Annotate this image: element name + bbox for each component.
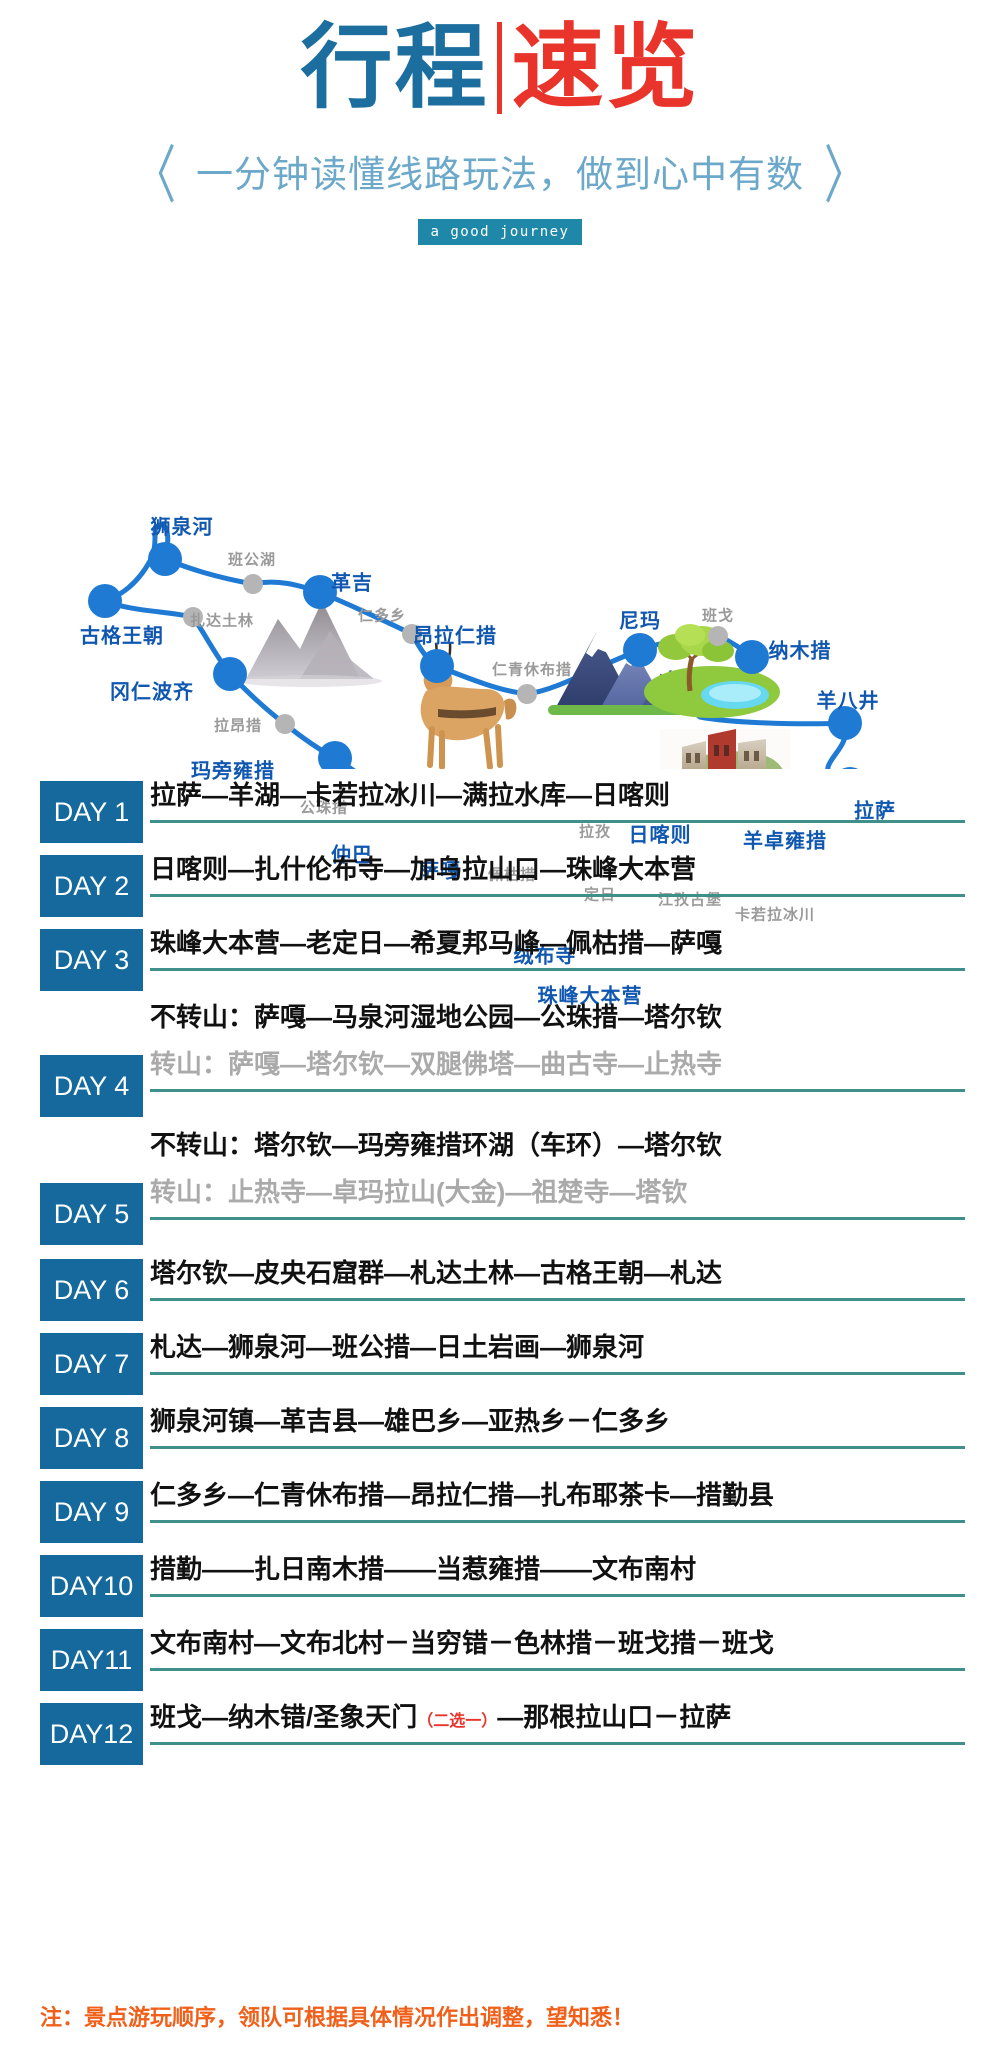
day-badge[interactable]: DAY12 — [40, 1703, 143, 1765]
day-row: DAY 9仁多乡—仁青休布措—昂拉仁措—扎布耶茶卡—措勤县 — [0, 1475, 1000, 1549]
itinerary-day-list: DAY 1拉萨—羊湖—卡若拉冰川—满拉水库—日喀则DAY 2日喀则—扎什伦布寺—… — [0, 775, 1000, 1771]
day-divider — [150, 968, 965, 971]
day-divider — [150, 1372, 965, 1375]
day-row: DAY 5不转山：塔尔钦—玛旁雍措环湖（车环）—塔尔钦转山：止热寺—卓玛拉山(大… — [0, 1125, 1000, 1253]
day-route-main: 狮泉河镇—革吉县—雄巴乡—亚热乡－仁多乡 — [150, 1401, 965, 1438]
day-row: DAY12班戈—纳木错/圣象天门（二选一）—那根拉山口－拉萨 — [0, 1697, 1000, 1771]
day-badge[interactable]: DAY 9 — [40, 1481, 143, 1543]
day-content: 措勤——扎日南木措——当惹雍措——文布南村 — [150, 1549, 965, 1597]
day-route-main: 札达—狮泉河—班公措—日土岩画—狮泉河 — [150, 1327, 965, 1364]
day-route-main: 日喀则—扎什伦布寺—加乌拉山口—珠峰大本营 — [150, 849, 965, 886]
day-divider — [150, 1089, 965, 1092]
title-divider-bar — [497, 22, 502, 114]
day-route-choice-note: （二选一） — [417, 1713, 497, 1730]
day-badge[interactable]: DAY 5 — [40, 1183, 143, 1245]
route-map-svg — [0, 249, 1000, 769]
day-content: 文布南村—文布北村－当穷错－色林措－班戈措－班戈 — [150, 1623, 965, 1671]
day-badge[interactable]: DAY 7 — [40, 1333, 143, 1395]
day-divider — [150, 820, 965, 823]
day-divider — [150, 1742, 965, 1745]
title-red-text: 速览 — [512, 22, 700, 114]
day-row: DAY10措勤——扎日南木措——当惹雍措——文布南村 — [0, 1549, 1000, 1623]
day-route-main: 措勤——扎日南木措——当惹雍措——文布南村 — [150, 1549, 965, 1586]
day-badge[interactable]: DAY 3 — [40, 929, 143, 991]
day-content: 狮泉河镇—革吉县—雄巴乡—亚热乡－仁多乡 — [150, 1401, 965, 1449]
page-header: 行程 速览 〈 一分钟读懂线路玩法，做到心中有数 〉 a good journe… — [0, 0, 1000, 245]
footer-note: 注：景点游玩顺序，领队可根据具体情况作出调整，望知悉！ — [40, 2000, 634, 2032]
day-route-main: 不转山：萨嘎—马泉河湿地公园—公珠措—塔尔钦 — [150, 997, 965, 1034]
day-divider — [150, 1217, 965, 1220]
day-content: 仁多乡—仁青休布措—昂拉仁措—扎布耶茶卡—措勤县 — [150, 1475, 965, 1523]
day-route-main: 班戈—纳木错/圣象天门（二选一）—那根拉山口－拉萨 — [150, 1697, 965, 1734]
day-divider — [150, 1520, 965, 1523]
day-content: 札达—狮泉河—班公措—日土岩画—狮泉河 — [150, 1327, 965, 1375]
day-badge[interactable]: DAY 2 — [40, 855, 143, 917]
day-route-alt: 转山：止热寺—卓玛拉山(大金)—祖楚寺—塔钦 — [150, 1172, 965, 1209]
day-badge[interactable]: DAY10 — [40, 1555, 143, 1617]
day-content: 不转山：塔尔钦—玛旁雍措环湖（车环）—塔尔钦转山：止热寺—卓玛拉山(大金)—祖楚… — [150, 1125, 965, 1220]
title-blue-text: 行程 — [300, 22, 488, 114]
day-row: DAY 4不转山：萨嘎—马泉河湿地公园—公珠措—塔尔钦转山：萨嘎—塔尔钦—双腿佛… — [0, 997, 1000, 1125]
day-divider — [150, 1668, 965, 1671]
day-route-main: 文布南村—文布北村－当穷错－色林措－班戈措－班戈 — [150, 1623, 965, 1660]
day-row: DAY 2日喀则—扎什伦布寺—加乌拉山口—珠峰大本营 — [0, 849, 1000, 923]
day-route-tail: —那根拉山口－拉萨 — [497, 1702, 731, 1732]
route-map: 狮泉河革吉古格王朝冈仁波齐昂拉仁措尼玛纳木措羊八井拉萨玛旁雍措仲巴萨嘎日喀则羊卓… — [0, 249, 1000, 769]
day-content: 塔尔钦—皮央石窟群—札达土林—古格王朝—札达 — [150, 1253, 965, 1301]
day-route-text: 班戈—纳木错/圣象天门 — [150, 1702, 417, 1732]
page-subtitle: 一分钟读懂线路玩法，做到心中有数 — [196, 144, 804, 198]
day-badge[interactable]: DAY 4 — [40, 1055, 143, 1117]
day-divider — [150, 1446, 965, 1449]
day-badge[interactable]: DAY 1 — [40, 781, 143, 843]
day-route-main: 拉萨—羊湖—卡若拉冰川—满拉水库—日喀则 — [150, 775, 965, 812]
day-route-main: 仁多乡—仁青休布措—昂拉仁措—扎布耶茶卡—措勤县 — [150, 1475, 965, 1512]
chevron-right-icon: 〉 — [824, 125, 866, 217]
day-row: DAY 8狮泉河镇—革吉县—雄巴乡—亚热乡－仁多乡 — [0, 1401, 1000, 1475]
day-row: DAY 3珠峰大本营—老定日—希夏邦马峰—佩枯措—萨嘎 — [0, 923, 1000, 997]
day-badge[interactable]: DAY11 — [40, 1629, 143, 1691]
page-title: 行程 速览 — [0, 22, 1000, 114]
day-divider — [150, 894, 965, 897]
day-row: DAY 7札达—狮泉河—班公措—日土岩画—狮泉河 — [0, 1327, 1000, 1401]
mountain-grey-illustration — [238, 601, 382, 687]
day-route-main: 珠峰大本营—老定日—希夏邦马峰—佩枯措—萨嘎 — [150, 923, 965, 960]
day-divider — [150, 1594, 965, 1597]
badge-row: a good journey — [0, 219, 1000, 245]
day-content: 不转山：萨嘎—马泉河湿地公园—公珠措—塔尔钦转山：萨嘎—塔尔钦—双腿佛塔—曲古寺… — [150, 997, 965, 1092]
day-row: DAY11文布南村—文布北村－当穷错－色林措－班戈措－班戈 — [0, 1623, 1000, 1697]
day-route-main: 不转山：塔尔钦—玛旁雍措环湖（车环）—塔尔钦 — [150, 1125, 965, 1162]
good-journey-badge: a good journey — [418, 219, 581, 245]
day-divider — [150, 1298, 965, 1301]
day-badge[interactable]: DAY 8 — [40, 1407, 143, 1469]
potala-palace-illustration — [660, 729, 790, 769]
day-route-alt: 转山：萨嘎—塔尔钦—双腿佛塔—曲古寺—止热寺 — [150, 1044, 965, 1081]
chevron-left-icon: 〈 — [134, 125, 176, 217]
day-content: 拉萨—羊湖—卡若拉冰川—满拉水库—日喀则 — [150, 775, 965, 823]
day-content: 日喀则—扎什伦布寺—加乌拉山口—珠峰大本营 — [150, 849, 965, 897]
day-route-main: 塔尔钦—皮央石窟群—札达土林—古格王朝—札达 — [150, 1253, 965, 1290]
day-content: 珠峰大本营—老定日—希夏邦马峰—佩枯措—萨嘎 — [150, 923, 965, 971]
day-row: DAY 6塔尔钦—皮央石窟群—札达土林—古格王朝—札达 — [0, 1253, 1000, 1327]
subtitle-row: 〈 一分钟读懂线路玩法，做到心中有数 〉 — [0, 140, 1000, 201]
day-content: 班戈—纳木错/圣象天门（二选一）—那根拉山口－拉萨 — [150, 1697, 965, 1745]
day-row: DAY 1拉萨—羊湖—卡若拉冰川—满拉水库—日喀则 — [0, 775, 1000, 849]
day-badge[interactable]: DAY 6 — [40, 1259, 143, 1321]
